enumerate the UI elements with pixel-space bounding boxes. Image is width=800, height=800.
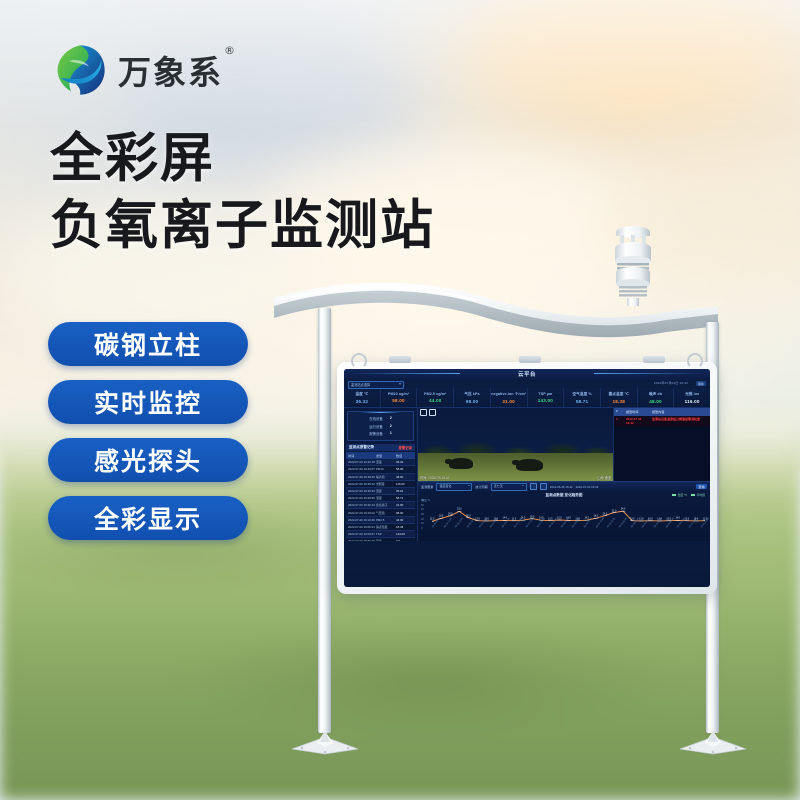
data-point-label: 24.0: [448, 513, 452, 515]
row-type: 温度: [376, 489, 396, 493]
metric-label: 光照 lux: [685, 392, 699, 397]
row-value: 0.9: [396, 539, 413, 541]
data-point-label: 20.0: [466, 515, 470, 517]
alarm-col-value: 数值: [396, 453, 413, 458]
row-type: 噪声值: [376, 475, 396, 479]
data-point-label: 34.0: [621, 509, 625, 511]
data-point-label: 33.5: [457, 509, 461, 511]
device-stat-2: 报警设备1: [350, 430, 411, 437]
metric-label: 露点温度 ℃: [609, 392, 629, 397]
dashboard-screen: 云平台 监测站点选择 2022年07月03日 16:42 刷新 温度 ℃36.3…: [344, 369, 710, 587]
chart-y-axis: 6050403020100: [421, 499, 431, 527]
alarm-table-header: 监测点报警记录 报警记录: [346, 444, 415, 451]
element-select-value: 温度变化: [439, 484, 451, 488]
data-point-label: 12.0: [430, 519, 434, 521]
metric-0: 温度 ℃36.32: [344, 388, 381, 407]
metric-7: 露点温度 ℃18.38: [601, 388, 638, 407]
y-tick: 20: [421, 518, 424, 521]
metric-2: PM2.5 ug/m³44.00: [417, 388, 454, 407]
table-row[interactable]: 2022-07-03 16:30:33温度35.91: [346, 488, 415, 495]
metric-value: 58.71: [576, 399, 589, 404]
legend-swatch: [691, 494, 695, 496]
alarm-panel-col-idx: #: [616, 409, 622, 414]
row-type: 温度: [376, 460, 396, 464]
row-value: 98.00: [396, 511, 413, 515]
monitoring-station: 云平台 监测站点选择 2022年07月03日 16:42 刷新 温度 ℃36.3…: [0, 0, 800, 800]
alarm-tag: 报警记录: [398, 445, 412, 450]
y-tick: 30: [421, 513, 424, 516]
row-value: 35.91: [396, 489, 413, 493]
table-row[interactable]: 2022-07-03 16:15:02气压值98.00: [346, 509, 415, 516]
chart-title: 监测点数据 变化趋势图: [421, 493, 707, 498]
mount-hook-left: [351, 353, 367, 369]
metric-label: 噪声 db: [649, 392, 662, 397]
chart-area: 数值 ℃ 6050403020100 12.018.524.033.520.01…: [421, 499, 707, 535]
row-time: 2022-07-03 16:20:14: [348, 503, 376, 507]
mount-bracket-2: [519, 356, 541, 363]
data-point-label: 24.5: [603, 513, 607, 515]
video-channel: 山地 通道: [597, 475, 611, 480]
table-row[interactable]: 2022-07-03 16:42:18温度36.32: [346, 459, 415, 466]
metric-value: 116.00: [685, 399, 700, 404]
row-type: PM10: [376, 467, 396, 471]
y-tick: 60: [421, 499, 424, 502]
trend-chart: 监测点数据 变化趋势图 温度 ℃平均值 数值 ℃ 6050403020100 1…: [418, 491, 710, 541]
row-type: 光照度: [376, 482, 396, 486]
calendar-icon-end[interactable]: [540, 483, 547, 490]
metric-4: negative-ion 个/cm³31.00: [491, 388, 528, 407]
device-stats-card: 在线设备2运行设备2报警设备1: [347, 411, 414, 441]
alarm-row-idx: 1: [616, 417, 622, 425]
y-tick: 50: [421, 504, 424, 507]
calendar-icon-start[interactable]: [530, 483, 537, 490]
metric-label: PM10 ug/m³: [388, 392, 409, 396]
stat-value: 2: [390, 416, 392, 421]
dashboard-subbar: 监测站点选择 2022年07月03日 16:42 刷新: [344, 380, 710, 388]
row-type: 风速: [376, 539, 396, 541]
row-value: 48.00: [396, 475, 413, 479]
alarm-table-rows[interactable]: 2022-07-03 16:42:18温度36.322022-07-03 16:…: [346, 459, 415, 541]
metric-value: 58.00: [392, 398, 405, 403]
row-time: 2022-07-03 16:15:02: [348, 511, 376, 515]
row-value: 18.38: [396, 525, 413, 529]
stat-label: 运行设备: [369, 424, 383, 429]
row-value: 116.00: [396, 482, 413, 486]
table-row[interactable]: 2022-07-03 15:55:39风速0.9: [346, 538, 415, 541]
metric-value: 143.00: [538, 398, 553, 403]
stat-label: 在线设备: [369, 416, 383, 421]
crosshair-icon[interactable]: [420, 409, 427, 416]
metric-8: 噪声 db48.00: [638, 388, 675, 407]
metric-6: 空气湿度 %58.71: [564, 388, 601, 407]
video-timestamp: 时间: 2022/7/3 16:42: [420, 475, 449, 480]
center-panel: 时间: 2022/7/3 16:42 山地 通道 # 报警时间 报警内容: [418, 408, 710, 541]
metric-value: 44.00: [429, 398, 442, 403]
metric-9: 光照 lux116.00: [674, 388, 710, 407]
table-row[interactable]: 2022-07-03 16:35:12光照度116.00: [346, 481, 415, 488]
row-value: 143.00: [396, 532, 413, 536]
alarm-col-time: 时间: [348, 453, 376, 458]
row-value: 58.00: [396, 467, 413, 471]
query-button[interactable]: 查询: [696, 484, 707, 489]
flange-base-plate-right: [678, 729, 748, 755]
row-time: 2022-07-03 16:38:45: [348, 475, 376, 479]
video-row: 时间: 2022/7/3 16:42 山地 通道 # 报警时间 报警内容: [418, 408, 710, 481]
stat-value: 1: [390, 431, 392, 436]
alarm-col-type: 类型: [376, 453, 396, 458]
row-type: 湿度: [376, 496, 396, 500]
alarm-row-time: 2022-07-03 16:42: [626, 417, 648, 425]
station-select-value: 监测站点选择: [351, 382, 370, 387]
carbon-steel-pole-left: [318, 308, 331, 733]
metric-value: 48.00: [649, 399, 662, 404]
metric-label: negative-ion 个/cm³: [491, 392, 526, 397]
row-type: 气压值: [376, 511, 396, 515]
control-label-element: 监测要素: [421, 484, 433, 489]
metric-3: 气压 kPa98.00: [454, 388, 491, 407]
metric-label: TSP μm: [538, 392, 552, 396]
legend-label: 平均值: [697, 493, 705, 497]
row-time: 2022-07-03 16:40:07: [348, 467, 376, 471]
legend-item-0: 温度 ℃: [672, 493, 687, 497]
metric-label: PM2.5 ug/m³: [424, 392, 446, 396]
refresh-button[interactable]: 刷新: [696, 381, 706, 386]
row-value: 58.71: [396, 496, 413, 500]
data-point-label: 13.5: [630, 518, 634, 520]
chevron-down-icon: [399, 383, 401, 385]
alarm-panel-header: # 报警时间 报警内容: [614, 408, 710, 416]
mount-bracket-1: [389, 356, 411, 363]
feed-cattle-2: [516, 459, 543, 471]
legend-label: 温度 ℃: [678, 493, 688, 497]
alarm-panel-col-time: 报警时间: [626, 409, 648, 414]
row-value: 44.00: [396, 518, 413, 522]
alarm-panel-col-content: 报警内容: [652, 409, 664, 414]
alarm-table-title: 监测点报警记录: [349, 445, 374, 450]
alarm-table-columns: 时间 类型 数值: [346, 452, 415, 459]
metric-1: PM10 ug/m³58.00: [381, 388, 418, 407]
ultrasonic-weather-sensor-icon: [604, 222, 662, 306]
data-point-label: 18.5: [594, 516, 598, 518]
y-tick: 10: [421, 522, 424, 525]
dashboard-body: 在线设备2运行设备2报警设备1 监测点报警记录 报警记录 时间 类型 数值 20…: [344, 408, 710, 541]
row-type: PM2.5: [376, 518, 396, 522]
alarm-row-content: 监测站设备温度超过阈值报警请检查: [652, 417, 700, 425]
element-select[interactable]: 温度变化: [436, 483, 472, 491]
dashboard-title: 云平台: [344, 370, 710, 378]
clock-text: 2022年07月03日 16:42: [654, 381, 688, 385]
data-point-label: 13.5: [548, 518, 552, 520]
legend-item-1: 平均值: [691, 493, 705, 497]
alarm-panel-row[interactable]: 1 2022-07-03 16:42 监测站设备温度超过阈值报警请检查: [614, 416, 710, 427]
row-value: 36.32: [396, 460, 413, 464]
row-time: 2022-07-03 16:25:50: [348, 496, 376, 500]
device-stat-1: 运行设备2: [350, 422, 411, 429]
date-end: 2022-07-03 16:42: [576, 485, 599, 489]
mount-hook-right: [687, 353, 703, 369]
chart-control-bar: 监测要素 温度变化 统计周期 近七天: [418, 481, 710, 491]
flange-base-plate-left: [290, 729, 360, 755]
table-row[interactable]: 2022-07-03 16:40:07PM1058.00: [346, 466, 415, 473]
row-time: 2022-07-03 16:30:33: [348, 489, 376, 493]
stat-label: 报警设备: [369, 431, 383, 436]
metric-label: 空气湿度 %: [572, 392, 591, 397]
row-time: 2022-07-03 16:00:07: [348, 532, 376, 536]
y-tick: 40: [421, 508, 424, 511]
metric-value: 31.00: [502, 399, 515, 404]
table-row[interactable]: 2022-07-03 16:05:21露点温度18.38: [346, 524, 415, 531]
row-time: 2022-07-03 16:42:18: [348, 460, 376, 464]
metric-strip: 温度 ℃36.32PM10 ug/m³58.00PM2.5 ug/m³44.00…: [344, 388, 710, 408]
row-time: 2022-07-03 15:55:39: [348, 539, 376, 541]
row-type: 露点温度: [376, 525, 396, 529]
chevron-down-icon: [468, 485, 470, 486]
table-row[interactable]: 2022-07-03 16:00:07TSP143.00: [346, 531, 415, 538]
row-type: 负氧离子: [376, 503, 396, 507]
control-label-period: 统计周期: [475, 484, 487, 489]
video-tool-group: [420, 409, 436, 416]
snapshot-icon[interactable]: [429, 409, 436, 416]
metric-label: 温度 ℃: [355, 392, 368, 397]
table-row[interactable]: 2022-07-03 16:25:50湿度58.71: [346, 495, 415, 502]
chart-legend: 温度 ℃平均值: [672, 493, 705, 497]
metric-value: 98.00: [466, 399, 479, 404]
marketing-banner: 万象系 ® 全彩屏 负氧离子监测站 碳钢立柱 实时监控 感光探头 全彩显示: [0, 0, 800, 800]
camera-feed[interactable]: 时间: 2022/7/3 16:42 山地 通道: [418, 408, 613, 481]
period-select[interactable]: 近七天: [491, 483, 527, 491]
row-type: TSP: [376, 532, 396, 536]
device-stat-0: 在线设备2: [350, 415, 411, 422]
stat-value: 2: [390, 424, 392, 429]
date-start: 2022-06-26 16:42: [550, 485, 573, 489]
chart-x-axis: 06-26 08:0006-26 12:0006-26 16:0006-26 2…: [432, 527, 705, 535]
dashboard-titlebar: 云平台: [344, 369, 710, 380]
sidebar-panel: 在线设备2运行设备2报警设备1 监测点报警记录 报警记录 时间 类型 数值 20…: [344, 408, 418, 541]
metric-label: 气压 kPa: [464, 392, 479, 397]
data-point-label: 31.0: [612, 510, 616, 512]
table-row[interactable]: 2022-07-03 16:10:46PM2.544.00: [346, 517, 415, 524]
alarm-panel: # 报警时间 报警内容 1 2022-07-03 16:42 监测站设备温度超过…: [613, 408, 710, 481]
table-row[interactable]: 2022-07-03 16:20:14负氧离子31.00: [346, 502, 415, 509]
feed-cattle-1: [449, 458, 473, 469]
legend-swatch: [672, 494, 676, 496]
display-monitor: 云平台 监测站点选择 2022年07月03日 16:42 刷新 温度 ℃36.3…: [337, 362, 717, 594]
chevron-down-icon: [522, 485, 524, 486]
station-select[interactable]: 监测站点选择: [348, 381, 404, 389]
metric-value: 18.38: [613, 399, 626, 404]
row-time: 2022-07-03 16:10:46: [348, 518, 376, 522]
row-value: 31.00: [396, 503, 413, 507]
period-select-value: 近七天: [494, 484, 503, 488]
y-tick: 0: [421, 527, 422, 530]
row-time: 2022-07-03 16:35:12: [348, 482, 376, 486]
metric-5: TSP μm143.00: [528, 388, 565, 407]
row-time: 2022-07-03 16:05:21: [348, 525, 376, 529]
mount-bracket-3: [643, 356, 665, 363]
table-row[interactable]: 2022-07-03 16:38:45噪声值48.00: [346, 474, 415, 481]
metric-value: 36.32: [356, 399, 369, 404]
